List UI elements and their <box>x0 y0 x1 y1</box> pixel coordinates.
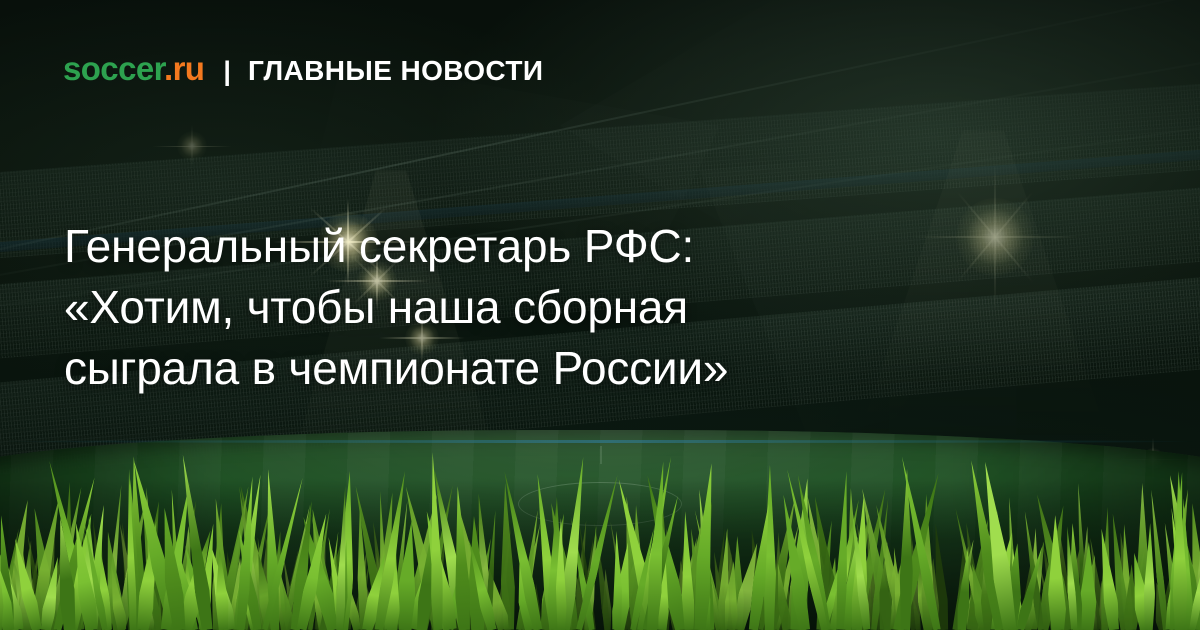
card-header: soccer.ru | ГЛАВНЫЕ НОВОСТИ <box>63 52 543 85</box>
page-title-line-2: «Хотим, чтобы наша сборная <box>64 277 1014 338</box>
header-kicker: ГЛАВНЫЕ НОВОСТИ <box>248 57 543 85</box>
page-title-line-1: Генеральный секретарь РФС: <box>64 216 1014 277</box>
news-share-card: soccer.ru | ГЛАВНЫЕ НОВОСТИ Генеральный … <box>0 0 1200 630</box>
logo-text-suffix: .ru <box>164 50 204 87</box>
page-title-line-3: сыграла в чемпионате России» <box>64 338 1014 399</box>
grass-foreground <box>0 440 1200 630</box>
header-separator: | <box>223 58 231 85</box>
page-title: Генеральный секретарь РФС:«Хотим, чтобы … <box>64 216 1014 399</box>
site-logo[interactable]: soccer.ru <box>63 52 204 85</box>
logo-text-primary: soccer <box>63 50 164 87</box>
